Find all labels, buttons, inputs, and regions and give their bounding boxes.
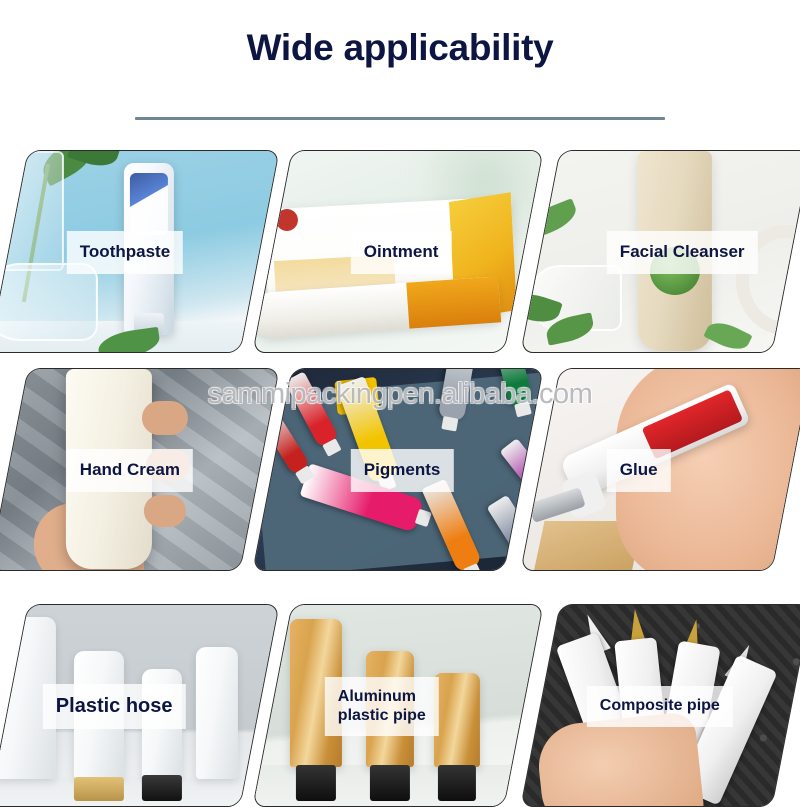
header-divider: [135, 117, 665, 120]
card-label: Ointment: [351, 231, 452, 273]
card-label-wrap: Composite pipe: [541, 605, 800, 807]
card-label: Glue: [607, 449, 671, 491]
card-pigments[interactable]: Pigments: [252, 368, 543, 571]
card-ointment[interactable]: Ointment: [252, 150, 543, 353]
card-label: Toothpaste: [67, 231, 183, 273]
card-hand-cream[interactable]: Hand Cream: [0, 368, 280, 571]
grid-row: Toothpaste Ointment: [0, 150, 800, 368]
card-label-wrap: Plastic hose: [9, 605, 280, 807]
card-label-wrap: Glue: [541, 369, 800, 571]
card-toothpaste[interactable]: Toothpaste: [0, 150, 280, 353]
applicability-infographic: Wide applicability Toothpaste: [0, 0, 800, 800]
card-label-wrap: Facial Cleanser: [541, 151, 800, 353]
card-plastic-hose[interactable]: Plastic hose: [0, 604, 280, 807]
applicability-grid: Toothpaste Ointment: [0, 150, 800, 804]
card-label: Facial Cleanser: [607, 231, 758, 273]
card-glue[interactable]: Glue: [520, 368, 800, 571]
card-label-wrap: Hand Cream: [9, 369, 280, 571]
card-composite-pipe[interactable]: Composite pipe: [520, 604, 800, 807]
card-label-wrap: Toothpaste: [9, 151, 280, 353]
card-label: Composite pipe: [587, 686, 733, 727]
card-label: Aluminum plastic pipe: [325, 677, 439, 737]
grid-row: Plastic hose Aluminum plastic pipe: [0, 586, 800, 804]
card-label-wrap: Aluminum plastic pipe: [273, 605, 544, 807]
card-facial-cleanser[interactable]: Facial Cleanser: [520, 150, 800, 353]
card-label: Plastic hose: [43, 684, 186, 730]
card-label: Hand Cream: [67, 449, 193, 491]
card-aluminum-plastic-pipe[interactable]: Aluminum plastic pipe: [252, 604, 543, 807]
grid-row: Hand Cream Pigments: [0, 368, 800, 586]
card-label-wrap: Ointment: [273, 151, 544, 353]
card-label: Pigments: [351, 449, 454, 491]
page-title: Wide applicability: [0, 28, 800, 69]
card-label-wrap: Pigments: [273, 369, 544, 571]
header: Wide applicability: [0, 28, 800, 69]
